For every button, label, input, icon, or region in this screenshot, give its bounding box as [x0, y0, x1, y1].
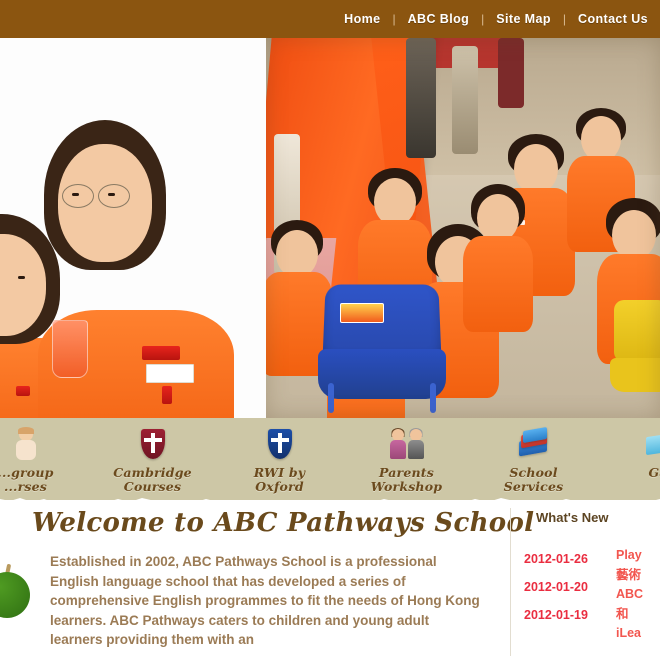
- whats-new-column: What's New 2012-01-26 2012-01-20 2012-01…: [510, 500, 660, 660]
- child-figure: [462, 184, 534, 324]
- content-area: Welcome to ABC Pathways School Establish…: [0, 500, 660, 660]
- news-date: 2012-01-19: [524, 608, 588, 622]
- toddler-icon: [0, 424, 89, 464]
- menu-label-line1: School: [470, 466, 597, 480]
- nav-contact-us[interactable]: Contact Us: [566, 12, 660, 26]
- welcome-paragraph: Established in 2002, ABC Pathways School…: [50, 552, 480, 650]
- name-badge: [146, 364, 194, 383]
- welcome-column: Welcome to ABC Pathways School Establish…: [0, 500, 510, 660]
- menu-label-line1: Parents: [343, 466, 470, 480]
- drink-cup: [52, 320, 88, 378]
- menu-item-cambridge-courses[interactable]: Cambridge Courses: [89, 418, 216, 494]
- news-date: 2012-01-26: [524, 552, 588, 566]
- top-navigation-bar: Home | ABC Blog | Site Map | Contact Us: [0, 0, 660, 38]
- hero-photo-girls: [0, 38, 266, 418]
- icon-menu-bar: ...group ...rses Cambridge Courses: [0, 418, 660, 500]
- news-title-line: iLea: [616, 624, 660, 644]
- news-date: 2012-01-20: [524, 580, 588, 594]
- top-navigation-links: Home | ABC Blog | Site Map | Contact Us: [332, 12, 660, 26]
- page-title: Welcome to ABC Pathways School: [32, 508, 534, 538]
- books-icon: [470, 424, 597, 464]
- menu-item-rwi-by-oxford[interactable]: RWI by Oxford: [216, 418, 343, 494]
- chair-sticker: [340, 303, 384, 323]
- menu-item-school-services[interactable]: School Services: [470, 418, 597, 494]
- menu-label-line1: ...group: [0, 466, 89, 480]
- nav-abc-blog[interactable]: ABC Blog: [396, 12, 482, 26]
- whats-new-heading: What's New: [536, 510, 608, 525]
- menu-label-line1: RWI by: [216, 466, 343, 480]
- whats-new-titles[interactable]: Play 藝術 ABC 和 iLea: [616, 546, 660, 644]
- column-divider: [510, 506, 511, 656]
- blue-chair: [318, 283, 446, 403]
- red-shield-icon: [89, 424, 216, 464]
- news-title-line: ABC: [616, 585, 660, 605]
- page-root: Home | ABC Blog | Site Map | Contact Us: [0, 0, 660, 660]
- menu-label-line1: Cambridge: [89, 466, 216, 480]
- blue-shield-icon: [216, 424, 343, 464]
- parents-icon: [343, 424, 470, 464]
- green-apple-icon: [0, 572, 30, 618]
- menu-item-playgroup-courses[interactable]: ...group ...rses: [0, 418, 89, 494]
- menu-label-line1: Gal: [597, 466, 660, 480]
- news-title-line: Play: [616, 546, 660, 566]
- menu-item-gallery[interactable]: Gal: [597, 418, 660, 480]
- hero-photo-classroom: [266, 38, 660, 418]
- nav-site-map[interactable]: Site Map: [484, 12, 563, 26]
- icon-menu-items: ...group ...rses Cambridge Courses: [0, 418, 660, 500]
- menu-item-parents-workshop[interactable]: Parents Workshop: [343, 418, 470, 494]
- nav-home[interactable]: Home: [332, 12, 392, 26]
- torn-paper-edge: [0, 492, 660, 508]
- gallery-icon: [597, 424, 660, 464]
- news-title-line: 藝術: [616, 566, 660, 586]
- news-title-line: 和: [616, 605, 660, 625]
- yellow-chair: [614, 300, 660, 410]
- hero-banner: [0, 38, 660, 418]
